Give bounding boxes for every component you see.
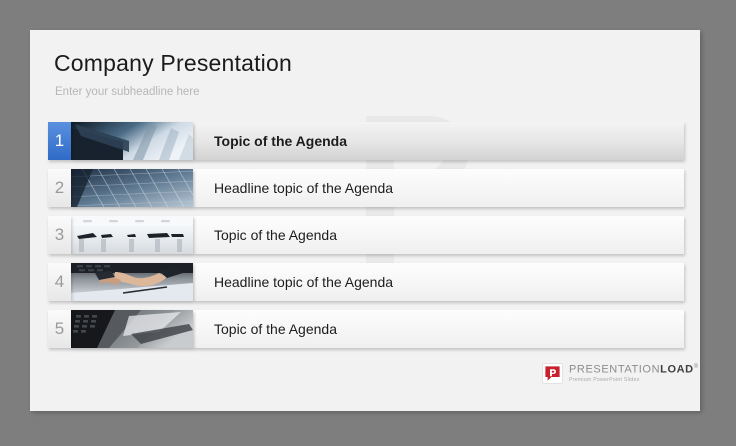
presentation-slide: Company Presentation Enter your subheadl… (30, 30, 700, 411)
logo-text: PRESENTATIONLOAD® Premium PowerPoint Sli… (569, 364, 699, 384)
agenda-label-3: Topic of the Agenda (214, 227, 337, 243)
agenda-number-badge-3: 3 (48, 216, 71, 254)
logo-name-light: PRESENTATION (569, 363, 660, 375)
logo-name-bold: LOAD (660, 363, 694, 375)
bright-conference-room-thumbnail (71, 216, 193, 254)
agenda-bar-4[interactable]: Headline topic of the Agenda (193, 263, 684, 301)
agenda-label-4: Headline topic of the Agenda (214, 274, 393, 290)
dark-laptop-keyboard-thumbnail (71, 310, 193, 348)
agenda-number-badge-1: 1 (48, 122, 71, 160)
agenda-number-badge-5: 5 (48, 310, 71, 348)
agenda-row-5[interactable]: 5 (48, 310, 684, 348)
logo-trademark: ® (694, 364, 699, 370)
agenda-bar-5[interactable]: Topic of the Agenda (193, 310, 684, 348)
screenshot-stage: Company Presentation Enter your subheadl… (0, 0, 736, 446)
agenda-number-badge-4: 4 (48, 263, 71, 301)
logo-tagline: Premium PowerPoint Slides (569, 377, 699, 384)
agenda-label-2: Headline topic of the Agenda (214, 180, 393, 196)
agenda-bar-2[interactable]: Headline topic of the Agenda (193, 169, 684, 207)
agenda-row-2[interactable]: 2 (48, 169, 684, 207)
agenda-list: 1 (48, 122, 684, 357)
logo-wordmark: PRESENTATIONLOAD® (569, 364, 699, 376)
agenda-row-1[interactable]: 1 (48, 122, 684, 160)
agenda-label-1: Topic of the Agenda (214, 133, 347, 149)
agenda-label-5: Topic of the Agenda (214, 321, 337, 337)
speech-bubble-icon (542, 363, 563, 384)
agenda-row-4[interactable]: 4 (48, 263, 684, 301)
skyscraper-upward-view-thumbnail (71, 122, 193, 160)
agenda-row-3[interactable]: 3 (48, 216, 684, 254)
business-handshake-desk-thumbnail (71, 263, 193, 301)
agenda-number-badge-2: 2 (48, 169, 71, 207)
agenda-bar-3[interactable]: Topic of the Agenda (193, 216, 684, 254)
page-subtitle: Enter your subheadline here (55, 86, 200, 98)
agenda-bar-1[interactable]: Topic of the Agenda (193, 122, 684, 160)
page-title: Company Presentation (54, 50, 292, 77)
glass-office-facade-thumbnail (71, 169, 193, 207)
presentationload-logo[interactable]: PRESENTATIONLOAD® Premium PowerPoint Sli… (542, 363, 699, 384)
